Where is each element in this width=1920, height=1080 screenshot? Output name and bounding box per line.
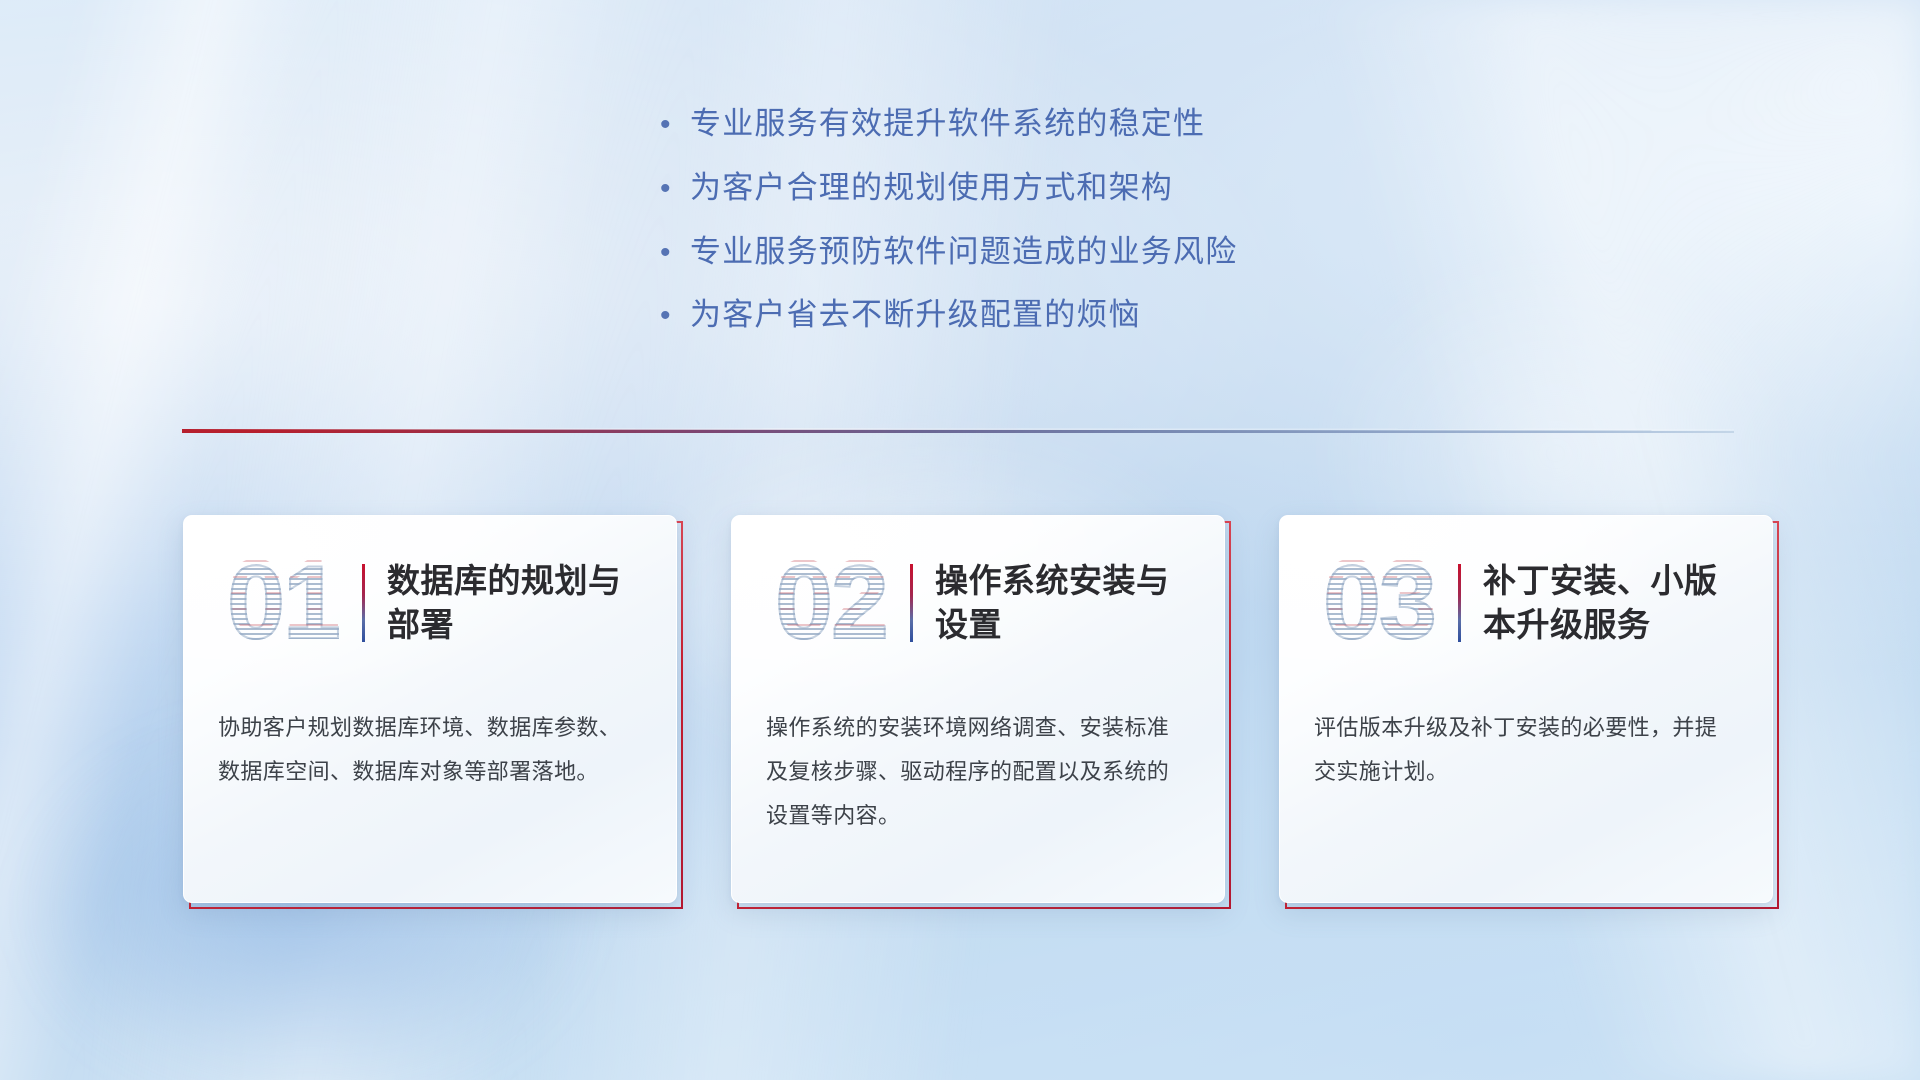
service-card-group: 01 数据库的规划与部署 01 协助客户规划数据库环境、数据库参数、数据库空间、… [0,505,1920,925]
card-title-divider [1458,564,1461,642]
list-item: • 为客户省去不断升级配置的烦恼 [660,296,1480,335]
card-title-divider [910,564,913,642]
bullet-dot-icon: • [660,238,690,268]
bullet-dot-icon: • [660,110,690,140]
bullet-dot-icon: • [660,301,690,331]
list-item: • 为客户合理的规划使用方式和架构 [660,169,1480,208]
card-description: 操作系统的安装环境网络调查、安装标准及复核步骤、驱动程序的配置以及系统的设置等内… [766,706,1186,838]
card-number-label: 01 [208,541,358,665]
card-description: 协助客户规划数据库环境、数据库参数、数据库空间、数据库对象等部署落地。 [218,706,638,794]
bullet-dot-icon: • [660,174,690,204]
bullet-item-label: 为客户合理的规划使用方式和架构 [690,169,1173,208]
card-surface: 01 数据库的规划与部署 01 协助客户规划数据库环境、数据库参数、数据库空间、… [183,515,677,903]
benefits-bullet-list: • 专业服务有效提升软件系统的稳定性 • 为客户合理的规划使用方式和架构 • 专… [660,105,1480,360]
bullet-item-label: 为客户省去不断升级配置的烦恼 [690,296,1141,335]
card-description: 评估版本升级及补丁安装的必要性，并提交实施计划。 [1314,706,1734,794]
section-divider [182,425,1734,439]
card-surface: 02 操作系统安装与设置 02 操作系统的安装环境网络调查、安装标准及复核步骤、… [731,515,1225,903]
card-surface: 03 补丁安装、小版本升级服务 03 评估版本升级及补丁安装的必要性，并提交实施… [1279,515,1773,903]
service-card-01[interactable]: 01 数据库的规划与部署 01 协助客户规划数据库环境、数据库参数、数据库空间、… [183,515,677,903]
card-title-divider [362,564,365,642]
slide-canvas: • 专业服务有效提升软件系统的稳定性 • 为客户合理的规划使用方式和架构 • 专… [0,0,1920,1080]
service-card-03[interactable]: 03 补丁安装、小版本升级服务 03 评估版本升级及补丁安装的必要性，并提交实施… [1279,515,1773,903]
bullet-item-label: 专业服务预防软件问题造成的业务风险 [690,233,1237,272]
card-title: 补丁安装、小版本升级服务 [1483,559,1733,646]
card-title: 数据库的规划与部署 [387,559,637,646]
card-header: 01 数据库的规划与部署 [184,534,677,672]
card-title: 操作系统安装与设置 [935,559,1185,646]
service-card-02[interactable]: 02 操作系统安装与设置 02 操作系统的安装环境网络调查、安装标准及复核步骤、… [731,515,1225,903]
card-header: 03 补丁安装、小版本升级服务 [1280,534,1773,672]
list-item: • 专业服务有效提升软件系统的稳定性 [660,105,1480,144]
card-number-label: 02 [756,541,906,665]
card-header: 02 操作系统安装与设置 [732,534,1225,672]
bullet-item-label: 专业服务有效提升软件系统的稳定性 [690,105,1205,144]
divider-highlight [182,428,1734,430]
list-item: • 专业服务预防软件问题造成的业务风险 [660,233,1480,272]
card-number-label: 03 [1304,541,1454,665]
